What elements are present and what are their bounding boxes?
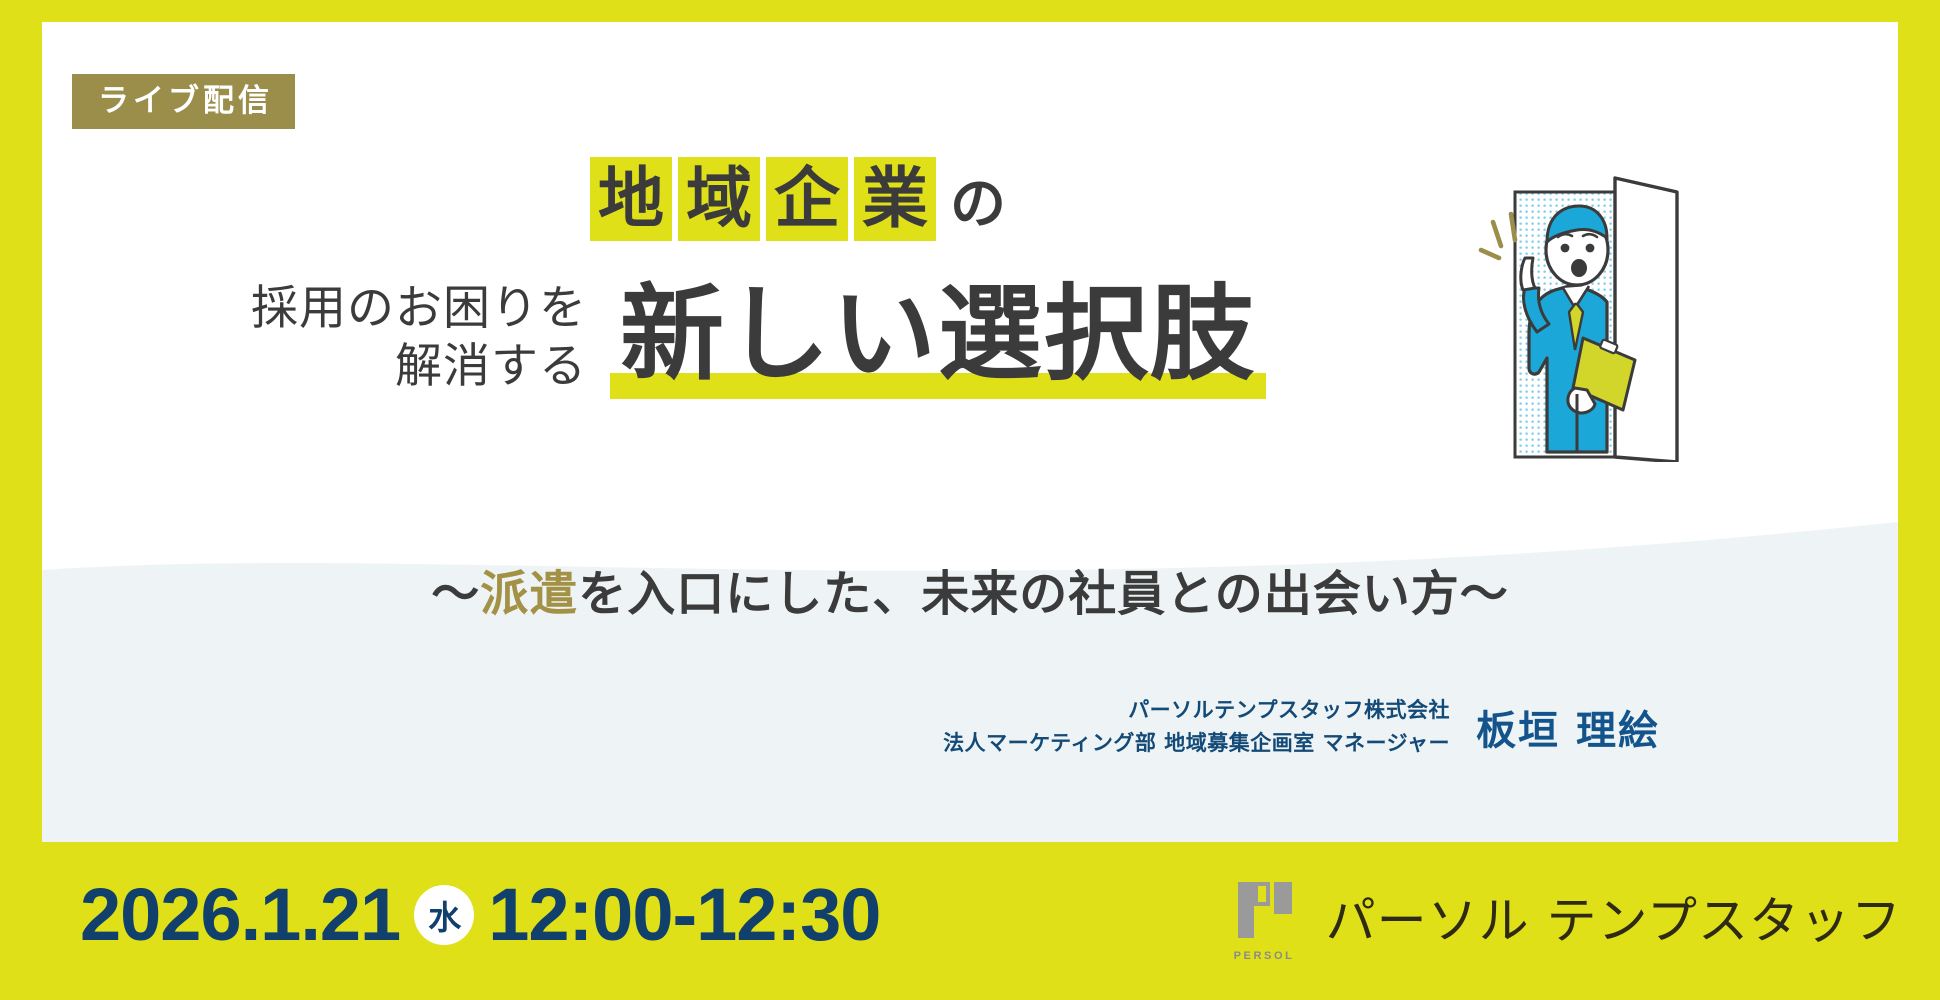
subheadline: ～派遣を入口にした、未来の社員との出会い方～: [42, 554, 1898, 624]
subheadline-rest: を入口にした、未来の社員との出会い方～: [578, 566, 1509, 622]
speaker-name: 板垣 理絵: [1476, 698, 1660, 756]
headline-box-char-4: 業: [854, 157, 936, 241]
subheadline-accent: 派遣: [480, 566, 578, 622]
speaker-info: パーソルテンプスタッフ株式会社 法人マーケティング部 地域募集企画室 マネージャ…: [943, 694, 1660, 759]
webinar-banner: ライブ配信 地 域 企 業 の 採用のお困りを 解消する 新しい選択肢 ～派遣を…: [0, 0, 1940, 1000]
speaker-department: 法人マーケティング部 地域募集企画室 マネージャー: [943, 727, 1450, 760]
speaker-company: パーソルテンプスタッフ株式会社: [943, 694, 1450, 727]
headline-left-line-1: 採用のお困りを: [247, 280, 587, 338]
schedule-time: 12:00-12:30: [488, 872, 880, 957]
businessman-in-doorway-icon: [1477, 162, 1737, 462]
subheadline-prefix: ～: [431, 566, 480, 622]
brand-lockup: PERSOL パーソル テンプスタッフ: [1234, 876, 1902, 958]
headline-left-line-2: 解消する: [247, 338, 587, 396]
persol-logo-icon: PERSOL: [1234, 876, 1300, 958]
banner-card: ライブ配信 地 域 企 業 の 採用のお困りを 解消する 新しい選択肢 ～派遣を…: [42, 22, 1898, 842]
live-stream-badge: ライブ配信: [72, 74, 295, 129]
headline-box-char-2: 域: [678, 157, 760, 241]
headline-left-block: 採用のお困りを 解消する: [247, 280, 587, 397]
bottom-bar: 2026.1.21 水 12:00-12:30 PERSOL パーソル テンプス…: [0, 842, 1940, 1000]
headline-box-char-1: 地: [590, 157, 672, 241]
headline-main: 新しい選択肢: [610, 278, 1266, 399]
brand-name: パーソル テンプスタッフ: [1326, 881, 1902, 953]
headline-suffix: の: [950, 177, 1006, 241]
headline-box-char-3: 企: [766, 157, 848, 241]
schedule-date: 2026.1.21: [80, 872, 400, 957]
schedule: 2026.1.21 水 12:00-12:30: [80, 872, 880, 957]
persol-wordmark: PERSOL: [1234, 950, 1300, 962]
schedule-day-of-week-badge: 水: [414, 885, 474, 945]
speaker-affiliation: パーソルテンプスタッフ株式会社 法人マーケティング部 地域募集企画室 マネージャ…: [943, 694, 1450, 759]
headline-boxed-row: 地 域 企 業 の: [590, 149, 1006, 241]
